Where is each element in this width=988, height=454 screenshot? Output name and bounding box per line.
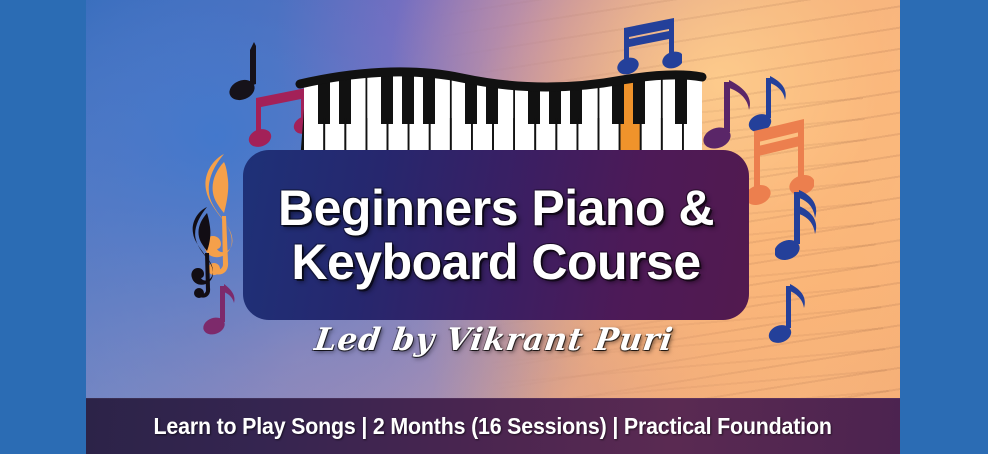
course-title-line-2: Keyboard Course xyxy=(291,235,700,289)
presenter-credit: Led by Vikrant Puri xyxy=(0,322,988,358)
course-details-banner: Learn to Play Songs | 2 Months (16 Sessi… xyxy=(86,398,900,454)
course-title-card: Beginners Piano & Keyboard Course xyxy=(243,150,749,320)
left-blue-border xyxy=(0,0,86,454)
course-details-text: Learn to Play Songs | 2 Months (16 Sessi… xyxy=(154,413,832,440)
right-blue-border xyxy=(900,0,988,454)
course-poster: Beginners Piano & Keyboard Course Led by… xyxy=(0,0,988,454)
course-title-line-1: Beginners Piano & xyxy=(278,181,714,235)
